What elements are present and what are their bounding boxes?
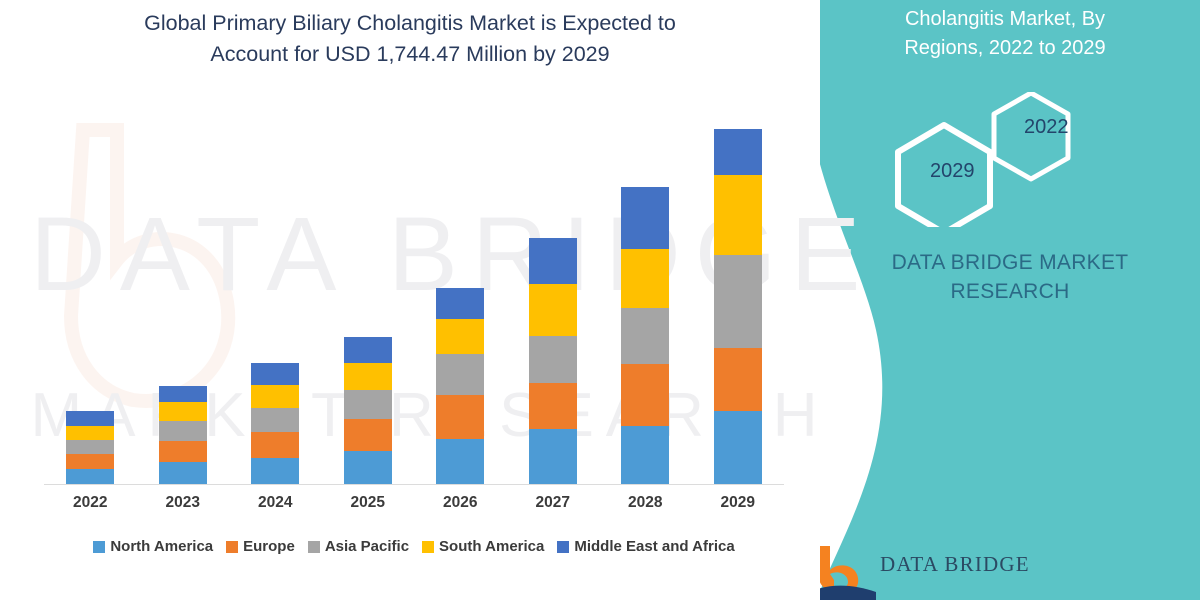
legend-item[interactable]: Middle East and Africa <box>557 538 734 555</box>
legend-label: Middle East and Africa <box>574 538 734 555</box>
bar-series-container <box>44 100 784 484</box>
bar-group <box>322 100 415 484</box>
bar-segment[interactable] <box>621 249 669 308</box>
bar-group <box>44 100 137 484</box>
x-axis-label-2023: 2023 <box>137 494 230 512</box>
bar-segment[interactable] <box>251 385 299 408</box>
bar-segment[interactable] <box>714 175 762 255</box>
bar-segment[interactable] <box>436 354 484 395</box>
stacked-bar-2024[interactable] <box>251 363 299 484</box>
bar-segment[interactable] <box>621 308 669 364</box>
bar-segment[interactable] <box>159 421 207 441</box>
bar-segment[interactable] <box>344 451 392 484</box>
bar-group <box>507 100 600 484</box>
x-axis-label-2027: 2027 <box>507 494 600 512</box>
bar-segment[interactable] <box>436 395 484 439</box>
bar-segment[interactable] <box>529 429 577 484</box>
x-axis-label-2028: 2028 <box>599 494 692 512</box>
legend-item[interactable]: Asia Pacific <box>308 538 409 555</box>
bar-segment[interactable] <box>529 383 577 429</box>
legend-label: South America <box>439 538 544 555</box>
bar-segment[interactable] <box>66 454 114 469</box>
bar-group <box>229 100 322 484</box>
bar-segment[interactable] <box>159 386 207 402</box>
brand-name: DATA BRIDGE MARKET RESEARCH <box>840 248 1180 306</box>
bar-segment[interactable] <box>344 419 392 451</box>
stacked-bar-2028[interactable] <box>621 187 669 484</box>
bar-segment[interactable] <box>714 129 762 175</box>
bar-segment[interactable] <box>344 363 392 390</box>
bar-segment[interactable] <box>529 238 577 284</box>
legend-item[interactable]: South America <box>422 538 544 555</box>
bar-segment[interactable] <box>251 408 299 432</box>
hexagon-badges: 2029 2022 <box>890 92 1130 227</box>
stacked-bar-2026[interactable] <box>436 288 484 484</box>
bar-segment[interactable] <box>159 441 207 462</box>
page-title-line1: Global Primary Biliary Cholangitis Marke… <box>60 8 760 39</box>
bar-segment[interactable] <box>66 440 114 454</box>
legend-swatch-icon <box>557 541 569 553</box>
bar-segment[interactable] <box>621 426 669 484</box>
bar-segment[interactable] <box>714 348 762 411</box>
bar-segment[interactable] <box>714 255 762 348</box>
infographic-canvas: Global Primary Biliary Cholangitis Marke… <box>0 0 1200 600</box>
legend-label: Europe <box>243 538 295 555</box>
bar-segment[interactable] <box>251 432 299 458</box>
bar-segment[interactable] <box>66 469 114 484</box>
x-axis-label-2029: 2029 <box>692 494 785 512</box>
panel-heading: Global Primary Biliary Cholangitis Marke… <box>835 0 1175 63</box>
hexagon-label-2029: 2029 <box>930 160 975 183</box>
bar-segment[interactable] <box>529 336 577 383</box>
bar-segment[interactable] <box>66 426 114 440</box>
x-axis-label-2026: 2026 <box>414 494 507 512</box>
bar-segment[interactable] <box>621 187 669 249</box>
page-title: Global Primary Biliary Cholangitis Marke… <box>60 8 760 70</box>
bar-group <box>137 100 230 484</box>
bar-segment[interactable] <box>436 439 484 484</box>
stacked-bar-chart: 20222023202420252026202720282029 <box>0 0 820 600</box>
stacked-bar-2023[interactable] <box>159 386 207 484</box>
bar-segment[interactable] <box>344 390 392 419</box>
hexagon-label-2022: 2022 <box>1024 116 1069 139</box>
brand-line2: RESEARCH <box>840 277 1180 306</box>
x-axis-label-2024: 2024 <box>229 494 322 512</box>
bar-segment[interactable] <box>436 288 484 319</box>
bar-segment[interactable] <box>251 458 299 484</box>
stacked-bar-2025[interactable] <box>344 337 392 484</box>
bar-group <box>692 100 785 484</box>
x-axis-label-2022: 2022 <box>44 494 137 512</box>
chart-legend: North AmericaEuropeAsia PacificSouth Ame… <box>44 538 784 555</box>
right-info-panel: Global Primary Biliary Cholangitis Marke… <box>780 0 1200 600</box>
legend-swatch-icon <box>226 541 238 553</box>
stacked-bar-2022[interactable] <box>66 411 114 484</box>
bar-segment[interactable] <box>529 284 577 336</box>
bar-segment[interactable] <box>344 337 392 363</box>
bar-segment[interactable] <box>714 411 762 484</box>
hexagon-outlines-icon <box>890 92 1130 227</box>
legend-item[interactable]: Europe <box>226 538 295 555</box>
bar-segment[interactable] <box>66 411 114 426</box>
bar-segment[interactable] <box>159 462 207 484</box>
legend-swatch-icon <box>422 541 434 553</box>
legend-label: Asia Pacific <box>325 538 409 555</box>
page-title-line2: Account for USD 1,744.47 Million by 2029 <box>60 39 760 70</box>
bar-segment[interactable] <box>159 402 207 421</box>
stacked-bar-2029[interactable] <box>714 129 762 484</box>
legend-swatch-icon <box>308 541 320 553</box>
bar-segment[interactable] <box>621 364 669 426</box>
chart-panel: DATA BRIDGE MARKET RESEARCH Global Prima… <box>0 0 820 600</box>
footer-logo: DATA BRIDGE <box>800 540 1100 600</box>
footer-logo-text: DATA BRIDGE <box>880 552 1030 577</box>
bar-segment[interactable] <box>436 319 484 354</box>
panel-heading-line2: Cholangitis Market, By <box>835 5 1175 34</box>
brand-line1: DATA BRIDGE MARKET <box>840 248 1180 277</box>
x-axis-labels: 20222023202420252026202720282029 <box>44 494 784 512</box>
legend-swatch-icon <box>93 541 105 553</box>
panel-heading-line3: Regions, 2022 to 2029 <box>835 34 1175 63</box>
bar-segment[interactable] <box>251 363 299 385</box>
bar-group <box>599 100 692 484</box>
x-axis-label-2025: 2025 <box>322 494 415 512</box>
legend-label: North America <box>110 538 213 555</box>
bar-group <box>414 100 507 484</box>
stacked-bar-2027[interactable] <box>529 238 577 484</box>
x-axis-line <box>44 484 784 485</box>
legend-item[interactable]: North America <box>93 538 213 555</box>
